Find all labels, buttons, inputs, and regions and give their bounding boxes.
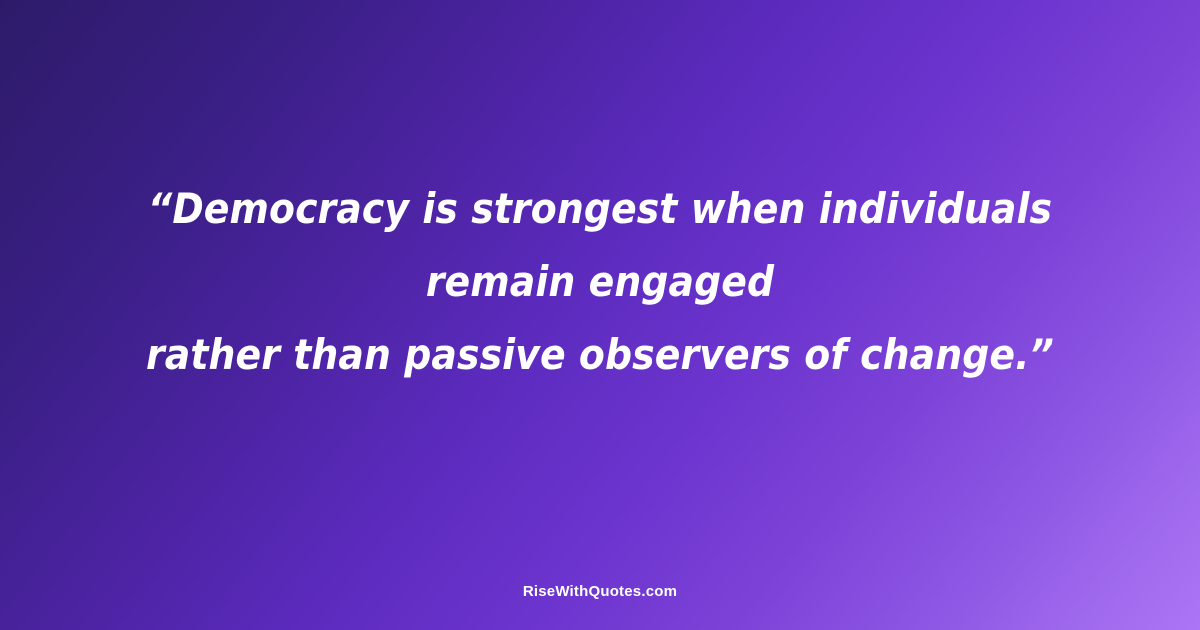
quote-block: “Democracy is strongest when individuals… (0, 172, 1200, 391)
footer: RiseWithQuotes.com (0, 581, 1200, 601)
quote-card: “Democracy is strongest when individuals… (0, 0, 1200, 630)
site-watermark: RiseWithQuotes.com (523, 583, 677, 601)
quote-text: “Democracy is strongest when individuals… (78, 172, 1122, 391)
